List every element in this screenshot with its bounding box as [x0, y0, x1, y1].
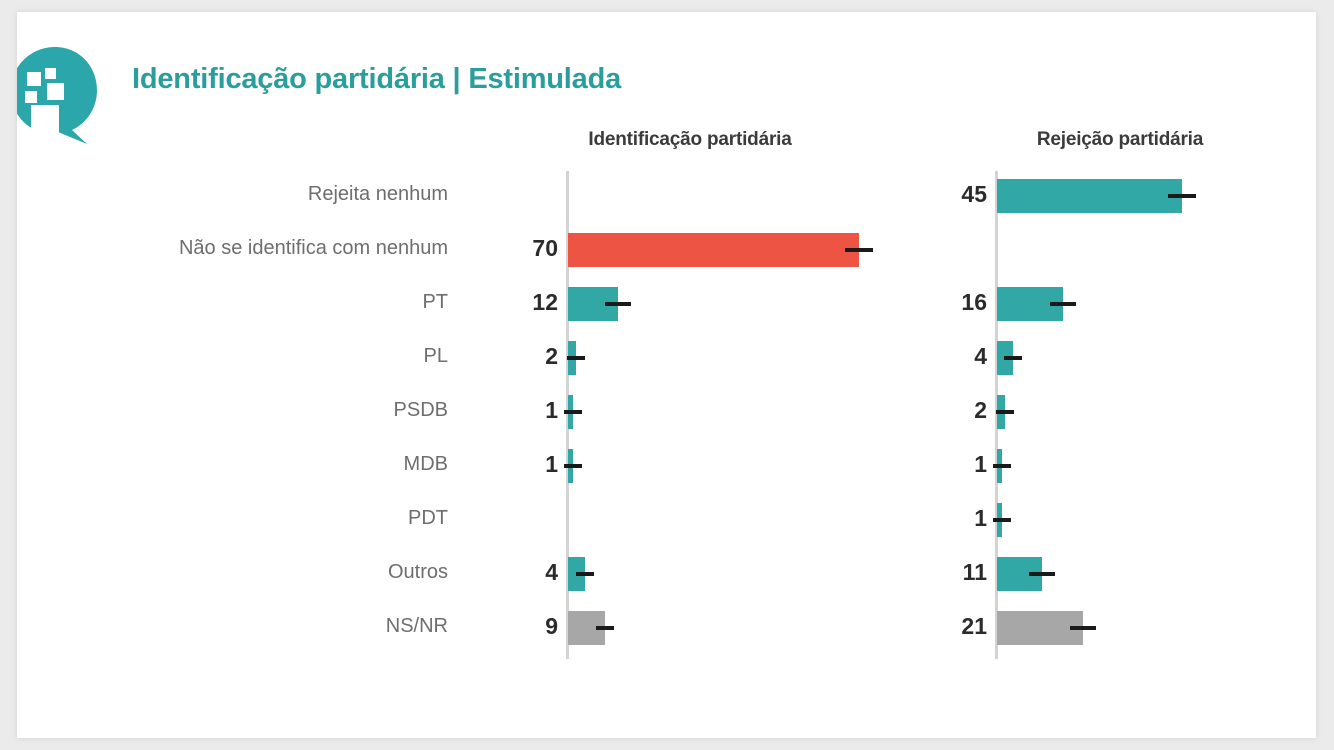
- bar-value-label: 4: [458, 559, 558, 586]
- bar-value-label: 9: [458, 613, 558, 640]
- error-bar: [1168, 194, 1196, 198]
- bar-value-label: 16: [887, 289, 987, 316]
- bar-value-label: 4: [887, 343, 987, 370]
- bar-value-label: 11: [887, 559, 987, 586]
- category-label: MDB: [88, 453, 448, 476]
- error-bar: [564, 410, 582, 414]
- chart-area: Identificação partidária Rejeição partid…: [0, 0, 1334, 750]
- error-bar: [1050, 302, 1076, 306]
- category-label: NS/NR: [88, 615, 448, 638]
- category-label: PL: [88, 345, 448, 368]
- error-bar: [993, 464, 1011, 468]
- bar-value-label: 1: [887, 505, 987, 532]
- error-bar: [596, 626, 614, 630]
- bar-value-label: 21: [887, 613, 987, 640]
- error-bar: [996, 410, 1014, 414]
- error-bar: [1070, 626, 1096, 630]
- bar-rejeicao: [997, 179, 1182, 213]
- category-label: Não se identifica com nenhum: [88, 237, 448, 260]
- error-bar: [564, 464, 582, 468]
- bar-value-label: 2: [458, 343, 558, 370]
- bar-value-label: 1: [887, 451, 987, 478]
- category-label: PSDB: [88, 399, 448, 422]
- error-bar: [576, 572, 594, 576]
- bar-value-label: 1: [458, 451, 558, 478]
- error-bar: [1004, 356, 1022, 360]
- error-bar: [993, 518, 1011, 522]
- category-label: Outros: [88, 561, 448, 584]
- category-label: Rejeita nenhum: [88, 183, 448, 206]
- bar-value-label: 1: [458, 397, 558, 424]
- error-bar: [1029, 572, 1055, 576]
- panel-title-rejeicao: Rejeição partidária: [880, 129, 1334, 151]
- screenshot-root: Identificação partidária | Estimulada Id…: [0, 0, 1334, 750]
- panel-title-identificacao: Identificação partidária: [450, 129, 930, 151]
- bar-value-label: 70: [458, 235, 558, 262]
- bar-value-label: 2: [887, 397, 987, 424]
- category-label: PT: [88, 291, 448, 314]
- bar-value-label: 12: [458, 289, 558, 316]
- error-bar: [567, 356, 585, 360]
- bar-identificacao: [568, 233, 859, 267]
- category-label: PDT: [88, 507, 448, 530]
- error-bar: [605, 302, 631, 306]
- error-bar: [845, 248, 873, 252]
- bar-value-label: 45: [887, 181, 987, 208]
